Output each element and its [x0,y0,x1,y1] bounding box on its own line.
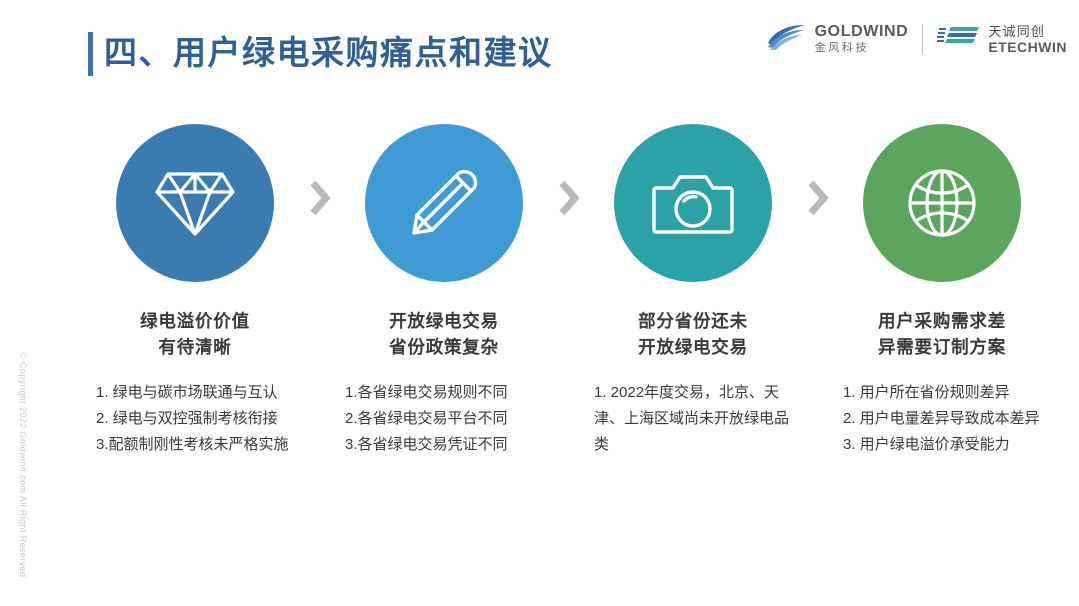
column-2-item-1: 1.各省绿电交易规则不同 [345,380,545,406]
column-2-item-3: 3.各省绿电交易凭证不同 [345,432,545,458]
goldwind-mark-icon [764,23,808,56]
pain-point-columns: 绿电溢价价值 有待清晰 1. 绿电与碳市场联通与互认 2. 绿电与双控强制考核衔… [88,124,1050,544]
goldwind-logo-text: GOLDWIND 金风科技 [815,24,909,54]
column-3-heading: 部分省份还未 开放绿电交易 [638,308,748,360]
camera-icon [651,168,735,238]
column-3-body: 1. 2022年度交易，北京、天津、上海区域尚未开放绿电品类 [594,380,794,458]
column-3-circle [614,124,772,282]
etechwin-mark-icon [937,24,981,55]
slide-header: 四、用户绿电采购痛点和建议 GOLDWIND 金风科技 [0,0,1079,92]
page-title: 四、用户绿电采购痛点和建议 [104,31,553,75]
globe-icon [905,166,979,240]
column-1-heading: 绿电溢价价值 有待清晰 [140,308,250,360]
arrow-2-to-3 [551,124,586,216]
column-4-item-1: 1. 用户所在省份规则差异 [843,380,1043,406]
logo-bar: GOLDWIND 金风科技 [764,18,1067,60]
column-4: 用户采购需求差 异需要订制方案 1. 用户所在省份规则差异 2. 用户电量差异导… [835,124,1049,458]
copyright-watermark: © Copyright 2022 Goldwind.com All Right … [18,352,28,577]
column-1: 绿电溢价价值 有待清晰 1. 绿电与碳市场联通与互认 2. 绿电与双控强制考核衔… [88,124,302,458]
column-1-item-1: 1. 绿电与碳市场联通与互认 [96,380,296,406]
column-4-heading: 用户采购需求差 异需要订制方案 [878,308,1006,360]
arrow-3-to-4 [800,124,835,216]
column-4-item-2: 2. 用户电量差异导致成本差异 [843,406,1043,432]
column-4-body: 1. 用户所在省份规则差异 2. 用户电量差异导致成本差异 3. 用户绿电溢价承… [843,380,1043,458]
arrow-1-to-2 [302,124,337,216]
pencil-icon [404,163,484,243]
etechwin-logo-chinese: 天诚同创 [988,25,1067,38]
goldwind-logo-english: GOLDWIND [815,24,909,40]
column-2-circle [365,124,523,282]
column-1-body: 1. 绿电与碳市场联通与互认 2. 绿电与双控强制考核衔接 3.配额制刚性考核未… [96,380,296,458]
chevron-right-icon [309,180,331,216]
column-2-item-2: 2.各省绿电交易平台不同 [345,406,545,432]
slide-canvas: 四、用户绿电采购痛点和建议 GOLDWIND 金风科技 [0,0,1079,606]
chevron-right-icon [807,180,829,216]
etechwin-logo: 天诚同创 ETECHWIN [937,24,1067,55]
diamond-icon [153,166,237,240]
title-accent-bar [88,32,93,76]
etechwin-logo-text: 天诚同创 ETECHWIN [988,25,1067,54]
logo-divider [922,24,923,54]
column-1-circle [116,124,274,282]
column-4-item-3: 3. 用户绿电溢价承受能力 [843,432,1043,458]
column-2: 开放绿电交易 省份政策复杂 1.各省绿电交易规则不同 2.各省绿电交易平台不同 … [337,124,551,458]
column-1-item-3: 3.配额制刚性考核未严格实施 [96,432,296,458]
column-4-circle [863,124,1021,282]
column-1-item-2: 2. 绿电与双控强制考核衔接 [96,406,296,432]
chevron-right-icon [558,180,580,216]
column-2-body: 1.各省绿电交易规则不同 2.各省绿电交易平台不同 3.各省绿电交易凭证不同 [345,380,545,458]
goldwind-logo-chinese: 金风科技 [815,43,909,54]
column-3-item-1: 1. 2022年度交易，北京、天津、上海区域尚未开放绿电品类 [594,380,794,458]
etechwin-logo-english: ETECHWIN [988,40,1067,54]
goldwind-logo: GOLDWIND 金风科技 [764,23,909,56]
column-3: 部分省份还未 开放绿电交易 1. 2022年度交易，北京、天津、上海区域尚未开放… [586,124,800,458]
column-2-heading: 开放绿电交易 省份政策复杂 [389,308,499,360]
